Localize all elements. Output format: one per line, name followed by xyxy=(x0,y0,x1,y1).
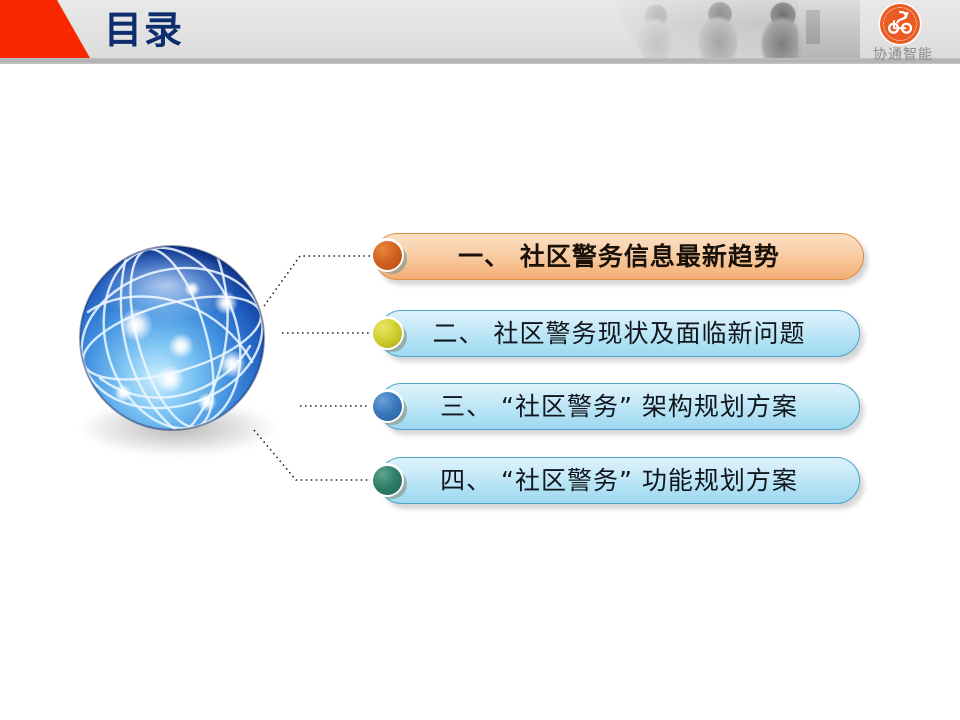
page-header: 目录 协通智能 xyxy=(0,0,960,64)
page-title: 目录 xyxy=(104,6,184,54)
bullet-green-dot xyxy=(373,466,402,495)
agenda-item-1[interactable]: 一、 社区警务信息最新趋势 xyxy=(374,233,864,280)
company-seal-icon xyxy=(878,2,922,46)
network-globe-icon xyxy=(74,242,270,438)
company-logo: 协通智能 xyxy=(862,2,944,64)
bullet-yellow-dot xyxy=(373,319,402,348)
photo-panel-detail xyxy=(798,0,860,58)
company-name: 协通智能 xyxy=(862,46,944,64)
bullet-blue[interactable] xyxy=(370,389,404,423)
connector-line-1 xyxy=(264,256,378,306)
bullet-yellow[interactable] xyxy=(370,316,404,350)
bullet-orange[interactable] xyxy=(370,238,404,272)
agenda-item-2-label: 二、 社区警务现状及面临新问题 xyxy=(433,319,806,349)
agenda-item-4-label: 四、 “社区警务” 功能规划方案 xyxy=(440,466,798,496)
agenda-item-4[interactable]: 四、 “社区警务” 功能规划方案 xyxy=(378,457,860,504)
bullet-green[interactable] xyxy=(370,463,404,497)
bullet-orange-dot xyxy=(373,241,402,270)
header-divider xyxy=(0,58,960,64)
team-photo xyxy=(610,0,860,58)
seal-glyph-icon xyxy=(878,2,922,46)
bullet-blue-dot xyxy=(373,392,402,421)
agenda-item-3-label: 三、 “社区警务” 架构规划方案 xyxy=(440,392,798,422)
network-globe xyxy=(74,242,274,472)
agenda-item-3[interactable]: 三、 “社区警务” 架构规划方案 xyxy=(378,383,860,430)
agenda-item-2[interactable]: 二、 社区警务现状及面临新问题 xyxy=(378,310,860,357)
agenda-item-1-label: 一、 社区警务信息最新趋势 xyxy=(458,242,780,272)
